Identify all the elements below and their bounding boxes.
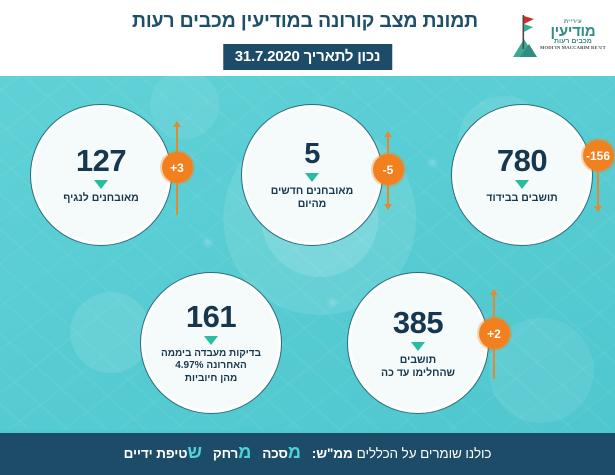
stat-label: מאובחנים לנגיף: [53, 192, 149, 205]
footer-word-mask: מסכה: [262, 442, 301, 463]
stat-value: 780: [497, 145, 547, 176]
trend-connector-line: [176, 183, 178, 215]
footer-initial-letter: מ: [288, 442, 301, 462]
stat-badge-isolated-residents: -156: [581, 140, 615, 211]
trend-triangle-icon: [305, 173, 319, 182]
stat-label-line: תושבים בבידוד: [486, 192, 557, 205]
logo-line-main: מודיעין: [540, 24, 606, 39]
stat-label-line: שהחלימו עד כה: [381, 367, 455, 380]
badge-value: -156: [583, 140, 614, 171]
footer-accent-strip: [0, 430, 615, 433]
footer-bar: כולנו שומרים על הכללים ממ"ש: מסכה מרחק ש…: [0, 430, 615, 475]
trend-triangle-icon: [411, 342, 425, 351]
stat-label: מאובחנים חדשים מהיום: [261, 185, 363, 211]
trend-triangle-icon: [94, 180, 108, 189]
footer-word-distance: מרחק: [213, 442, 251, 463]
badge-value: +2: [479, 318, 510, 349]
footer-acronym: ממ"ש:: [312, 446, 353, 461]
virus-spike: [205, 240, 210, 245]
footer-intro: כולנו שומרים על הכללים: [357, 446, 492, 461]
footer-word-rest: רחק: [213, 446, 238, 461]
stat-label-line: מאובחנים חדשים: [271, 185, 353, 198]
trend-connector-up-icon: [387, 132, 389, 154]
stat-badge-recovered-residents: +2: [477, 290, 511, 379]
footer-word-rest: סכה: [262, 446, 288, 461]
logo-line-english: MODI'IN MACCABIM RE'UT: [540, 46, 606, 51]
footer-message: כולנו שומרים על הכללים ממ"ש: מסכה מרחק ש…: [124, 442, 492, 463]
stat-value: 161: [186, 301, 236, 332]
stat-circle-isolated-residents: 780 תושבים בבידוד: [451, 104, 593, 246]
stat-circle-lab-tests: 161 בדיקות מעבדה ביממה האחרונה 4.97% מהן…: [140, 272, 282, 414]
stat-label: תושבים בבידוד: [476, 192, 567, 205]
trend-triangle-icon: [515, 180, 529, 189]
page-title: תמונת מצב קורונה במודיעין מכבים רעות: [105, 10, 505, 33]
virus-spike: [430, 160, 435, 165]
municipality-logo: עיריית מודיעין מכבים רעות MODI'IN MACCAB…: [511, 4, 607, 66]
stat-circle-new-diagnosed-today: 5 מאובחנים חדשים מהיום: [241, 104, 383, 246]
stat-label-line: מהיום: [271, 198, 353, 211]
stat-label-line: בדיקות מעבדה ביממה: [161, 348, 261, 361]
stat-label-line: מהן חיוביות: [161, 373, 261, 386]
stat-label: בדיקות מעבדה ביממה האחרונה 4.97% מהן חיו…: [151, 348, 271, 386]
stat-value: 127: [76, 145, 126, 176]
badge-value: -5: [373, 154, 404, 185]
trend-connector-down-icon: [597, 171, 599, 211]
badge-value: +3: [162, 152, 193, 183]
trend-connector-up-icon: [176, 122, 178, 152]
covid-dashboard-infographic: תמונת מצב קורונה במודיעין מכבים רעות עיר…: [0, 0, 615, 475]
date-banner: נכון לתאריך 31.7.2020: [223, 44, 392, 70]
stat-badge-total-diagnosed: +3: [160, 122, 194, 215]
stat-value: 5: [304, 140, 320, 169]
stat-label-line: האחרונה 4.97%: [161, 360, 261, 373]
trend-connector-down-icon: [387, 185, 389, 209]
stat-value: 385: [393, 307, 443, 338]
footer-word-handwashing: שטיפת ידיים: [124, 442, 202, 463]
stat-label-line: תושבים: [381, 354, 455, 367]
stat-circle-total-diagnosed: 127 מאובחנים לנגיף: [30, 104, 172, 246]
footer-initial-letter: ש: [187, 442, 201, 462]
logo-text-block: עיריית מודיעין מכבים רעות MODI'IN MACCAB…: [540, 19, 606, 51]
trend-connector-line: [493, 349, 495, 379]
footer-initial-letter: מ: [238, 442, 251, 462]
stat-circle-recovered-residents: 385 תושבים שהחלימו עד כה: [347, 272, 489, 414]
virus-spike: [330, 300, 335, 305]
stat-label: תושבים שהחלימו עד כה: [371, 354, 465, 380]
stat-label-line: מאובחנים לנגיף: [63, 192, 139, 205]
stat-badge-new-diagnosed-today: -5: [371, 132, 405, 209]
logo-emblem-icon: [511, 11, 537, 59]
trend-connector-up-icon: [493, 290, 495, 318]
trend-triangle-icon: [204, 336, 218, 345]
footer-word-rest: טיפת ידיים: [124, 446, 188, 461]
